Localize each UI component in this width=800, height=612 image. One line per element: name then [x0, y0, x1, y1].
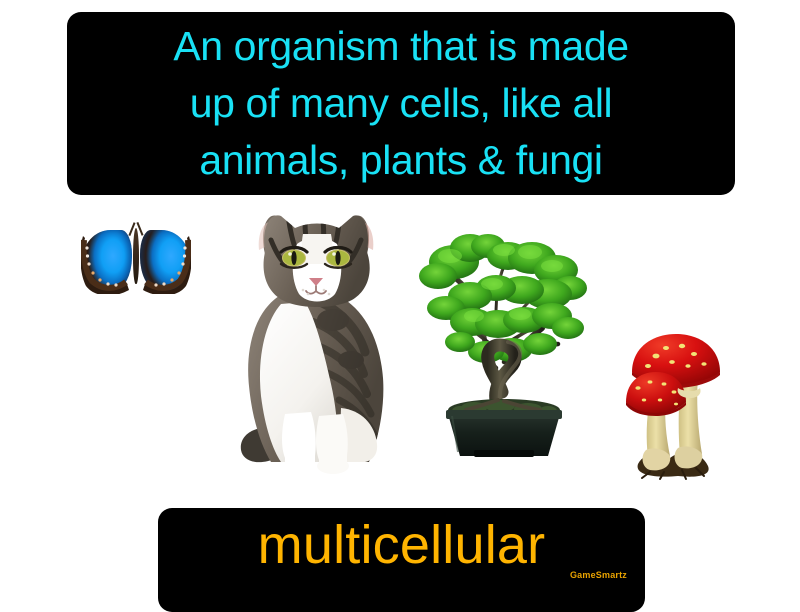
butterfly-right-wing: [140, 230, 190, 292]
definition-card: An organism that is made up of many cell…: [0, 0, 800, 600]
term-banner: multicellular GameSmartz: [158, 508, 645, 612]
butterfly-left-wing: [82, 230, 132, 292]
cat-paw-right: [317, 458, 349, 474]
cat-front-leg-left: [282, 412, 316, 466]
definition-line-3: animals, plants & fungi: [199, 132, 602, 189]
butterfly-image: [82, 226, 190, 298]
bonsai-image: [412, 204, 594, 476]
butterfly-body: [133, 228, 139, 284]
mushroom-image: [620, 326, 730, 481]
term-label: multicellular: [158, 514, 645, 576]
definition-banner: An organism that is made up of many cell…: [67, 12, 735, 195]
bonsai-pot-rim: [446, 410, 562, 419]
watermark-label: GameSmartz: [570, 570, 627, 580]
bonsai-pot-foot: [474, 450, 534, 457]
definition-line-2: up of many cells, like all: [190, 75, 613, 132]
definition-line-1: An organism that is made: [173, 18, 628, 75]
cat-image: [219, 200, 411, 478]
illustration-strip: [0, 196, 800, 496]
bonsai-pot: [448, 414, 560, 456]
cat-paw-left: [283, 458, 317, 474]
